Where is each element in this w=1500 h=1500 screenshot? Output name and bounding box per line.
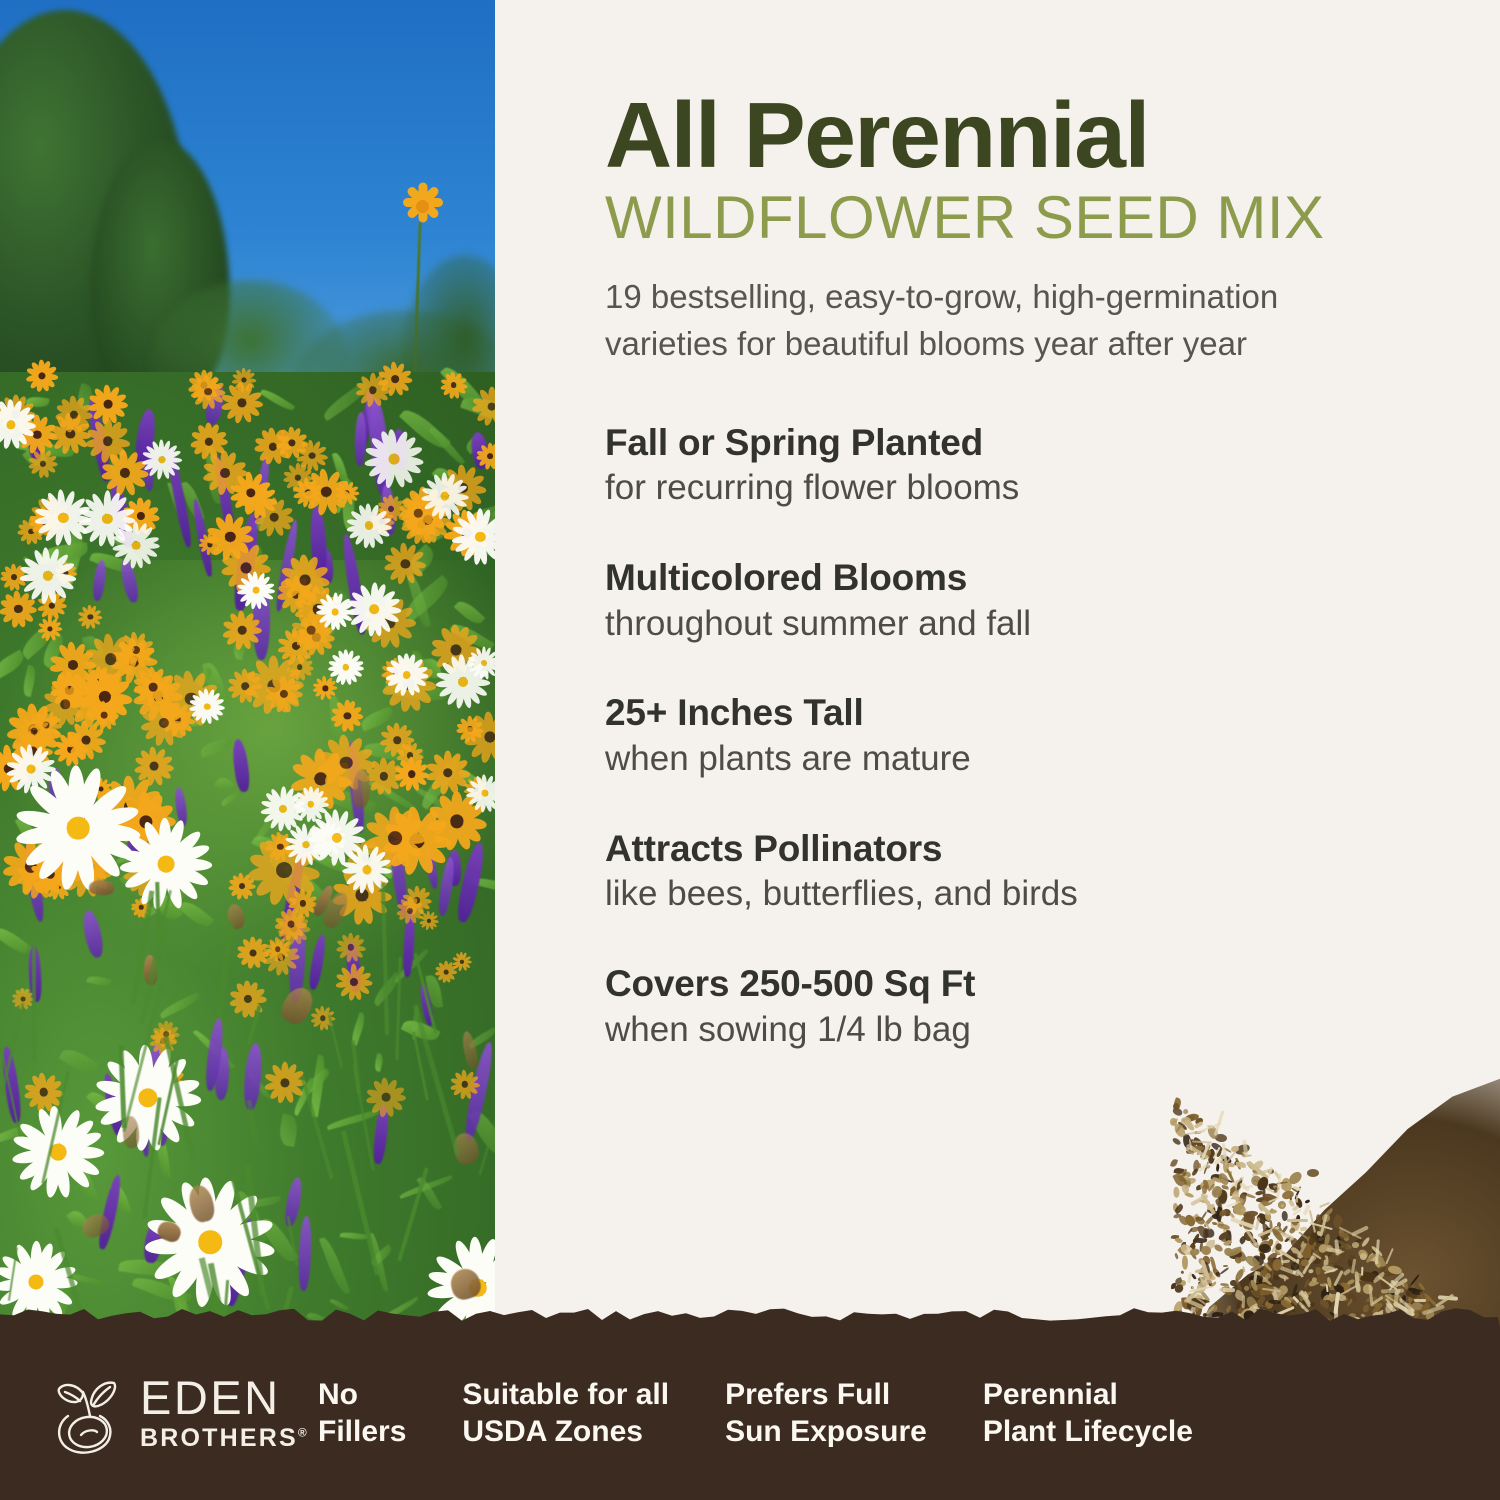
seed-particle xyxy=(1288,1237,1295,1244)
seed-particle xyxy=(1277,1222,1281,1228)
seed-particle xyxy=(1331,1215,1345,1230)
seed-particle xyxy=(1352,1268,1357,1273)
black-eyed-susan-bloom xyxy=(387,545,424,582)
seed-particle xyxy=(1234,1268,1245,1282)
seed-particle xyxy=(1170,1158,1178,1168)
scattered-seed xyxy=(1271,1227,1285,1243)
seed-particle xyxy=(1242,1211,1257,1218)
seed-particle xyxy=(1351,1242,1359,1248)
badge-line-2: Fillers xyxy=(318,1414,406,1451)
seed-particle xyxy=(1268,1168,1275,1174)
seed-particle xyxy=(1247,1215,1255,1223)
seed-particle xyxy=(1299,1269,1306,1276)
scattered-seed xyxy=(1271,1258,1282,1271)
seed-particle xyxy=(1290,1237,1299,1247)
white-daisy-bloom xyxy=(240,574,273,607)
black-eyed-susan-bloom xyxy=(267,938,289,960)
seed-particle xyxy=(1193,1237,1207,1243)
logo-text-brothers: BROTHERS® xyxy=(140,1423,309,1453)
feature-title: Multicolored Blooms xyxy=(605,556,1435,600)
seed-particle xyxy=(1326,1276,1332,1287)
seed-particle xyxy=(1199,1148,1213,1162)
badge-line-2: USDA Zones xyxy=(462,1414,669,1451)
seed-chaff xyxy=(1258,1202,1271,1215)
seed-particle xyxy=(1258,1203,1265,1211)
seed-particle xyxy=(1316,1231,1322,1237)
seed-particle xyxy=(1185,1146,1195,1155)
seed-particle xyxy=(1202,1215,1215,1228)
seed-particle xyxy=(1387,1265,1402,1276)
seed-particle xyxy=(1170,1235,1178,1240)
seed-particle xyxy=(1202,1268,1214,1280)
footer-badges: NoFillersSuitable for allUSDA ZonesPrefe… xyxy=(318,1377,1249,1450)
seed-chaff xyxy=(1253,1271,1258,1284)
seed-particle xyxy=(1347,1259,1352,1268)
seed-chaff xyxy=(1390,1279,1398,1287)
seed-particle xyxy=(1250,1238,1257,1244)
scattered-seed xyxy=(1316,1273,1327,1285)
seed-particle xyxy=(1198,1257,1207,1266)
seed-particle xyxy=(1311,1256,1321,1265)
black-eyed-susan-bloom xyxy=(479,445,495,468)
seed-particle xyxy=(1223,1265,1228,1268)
seed-particle xyxy=(1281,1189,1294,1200)
seed-particle xyxy=(1283,1275,1287,1282)
page-title: All Perennial xyxy=(605,0,1435,181)
black-eyed-susan-bloom xyxy=(26,1075,61,1110)
seed-particle xyxy=(1319,1263,1335,1275)
seed-particle xyxy=(1324,1243,1334,1254)
seed-chaff xyxy=(1192,1141,1213,1144)
black-eyed-susan-bloom xyxy=(104,453,145,494)
seed-particle xyxy=(1361,1236,1371,1247)
seed-particle xyxy=(1233,1143,1250,1156)
seed-particle xyxy=(1301,1246,1314,1260)
seed-particle xyxy=(1231,1197,1239,1200)
seed-particle xyxy=(1188,1242,1197,1251)
seed-particle xyxy=(1190,1251,1198,1260)
seed-particle xyxy=(1275,1249,1282,1255)
seed-particle xyxy=(1195,1185,1202,1191)
seed-particle xyxy=(1366,1250,1381,1263)
seed-chaff xyxy=(1183,1185,1189,1194)
content-panel: All Perennial WILDFLOWER SEED MIX 19 bes… xyxy=(495,0,1500,1345)
seed-particle xyxy=(1220,1158,1235,1169)
seed-particle xyxy=(1250,1264,1263,1272)
seed-chaff xyxy=(1292,1208,1302,1216)
white-daisy-bloom xyxy=(0,403,33,447)
seed-chaff xyxy=(1182,1131,1205,1137)
seed-chaff xyxy=(1226,1201,1241,1208)
seed-particle xyxy=(1224,1230,1231,1245)
seed-chaff xyxy=(1292,1258,1299,1274)
seed-chaff xyxy=(1225,1151,1237,1166)
black-eyed-susan-bloom xyxy=(90,702,117,729)
seed-particle xyxy=(1290,1219,1298,1227)
seed-particle xyxy=(1276,1225,1286,1236)
seed-chaff xyxy=(1290,1263,1303,1278)
seed-particle xyxy=(1245,1161,1253,1170)
seed-particle xyxy=(1323,1208,1333,1218)
feature-subtitle: when sowing 1/4 lb bag xyxy=(605,1009,1435,1052)
black-eyed-susan-bloom xyxy=(225,613,260,648)
seed-particle xyxy=(1281,1177,1293,1192)
seed-particle xyxy=(1191,1167,1198,1175)
seed-particle xyxy=(1180,1118,1191,1126)
seed-chaff xyxy=(1274,1171,1281,1180)
seed-particle xyxy=(1203,1162,1210,1175)
seed-particle xyxy=(1204,1143,1210,1151)
seed-particle xyxy=(1288,1226,1296,1234)
seed-particle xyxy=(1235,1162,1245,1168)
black-eyed-susan-bloom xyxy=(239,939,267,967)
seed-particle xyxy=(1206,1203,1218,1215)
seed-particle xyxy=(1379,1266,1387,1275)
badge-line-1: Perennial xyxy=(983,1377,1193,1414)
seed-particle xyxy=(1379,1262,1390,1273)
black-eyed-susan-bloom xyxy=(333,702,362,731)
black-eyed-susan-bloom xyxy=(21,718,48,745)
seed-chaff xyxy=(1186,1144,1210,1161)
seed-particle xyxy=(1182,1178,1187,1183)
seed-chaff xyxy=(1193,1121,1203,1129)
seed-particle xyxy=(1243,1212,1256,1228)
seed-particle xyxy=(1219,1267,1229,1275)
seed-chaff xyxy=(1302,1255,1315,1275)
seed-particle xyxy=(1354,1272,1363,1281)
seed-chaff xyxy=(1324,1268,1338,1274)
seed-particle xyxy=(1235,1177,1243,1191)
seed-chaff xyxy=(1302,1204,1310,1215)
scattered-seed xyxy=(1183,1214,1197,1229)
seed-particle xyxy=(1281,1226,1287,1234)
torn-edge-divider xyxy=(0,1288,1500,1328)
black-eyed-susan-bloom xyxy=(192,376,223,407)
seed-particle xyxy=(1208,1282,1213,1287)
seed-particle xyxy=(1281,1203,1285,1207)
seed-particle xyxy=(1359,1252,1367,1260)
seed-particle xyxy=(1199,1271,1203,1275)
seed-particle xyxy=(1177,1214,1190,1227)
seed-particle xyxy=(1221,1238,1229,1242)
seed-particle xyxy=(1309,1245,1315,1251)
black-eyed-susan-bloom xyxy=(396,759,427,790)
seed-particle xyxy=(1259,1275,1269,1282)
seed-particle xyxy=(1195,1269,1210,1274)
seed-particle xyxy=(1291,1246,1304,1261)
seed-particle xyxy=(1239,1152,1248,1157)
seed-chaff xyxy=(1271,1240,1280,1253)
white-daisy-bloom xyxy=(126,824,206,904)
seed-particle xyxy=(1235,1157,1241,1169)
seed-particle xyxy=(1382,1270,1397,1276)
scattered-seed xyxy=(1249,1174,1264,1188)
seed-particle xyxy=(1223,1246,1235,1258)
plant-stem xyxy=(32,935,37,1062)
seed-particle xyxy=(1318,1237,1324,1241)
seed-particle xyxy=(1177,1121,1188,1131)
seed-chaff xyxy=(1243,1185,1253,1189)
seed-particle xyxy=(1235,1194,1248,1209)
seed-chaff xyxy=(1242,1151,1248,1156)
seed-particle xyxy=(1189,1140,1195,1146)
black-eyed-susan-bloom xyxy=(223,384,260,421)
seed-particle xyxy=(1195,1215,1202,1221)
seed-particle xyxy=(1173,1203,1184,1214)
seed-particle xyxy=(1183,1114,1195,1124)
seed-particle xyxy=(1273,1184,1281,1190)
black-eyed-susan-bloom xyxy=(338,966,370,998)
scattered-seed xyxy=(1287,1170,1304,1187)
seed-particle xyxy=(1338,1239,1352,1251)
seed-particle xyxy=(1183,1134,1191,1148)
seed-particle xyxy=(1297,1260,1303,1270)
seed-particle xyxy=(1215,1271,1220,1276)
seed-particle xyxy=(1199,1267,1207,1274)
seed-chaff xyxy=(1287,1219,1308,1222)
seed-particle xyxy=(1223,1238,1233,1247)
feature-title: Fall or Spring Planted xyxy=(605,421,1435,465)
seed-particle xyxy=(1314,1232,1323,1245)
seed-particle xyxy=(1255,1190,1264,1196)
seed-particle xyxy=(1216,1186,1221,1191)
black-eyed-susan-bloom xyxy=(437,963,456,982)
black-eyed-susan-bloom xyxy=(57,398,90,431)
seed-particle xyxy=(1370,1245,1383,1257)
seed-particle xyxy=(1266,1263,1271,1267)
seed-particle xyxy=(1269,1209,1277,1214)
seed-particle xyxy=(1320,1282,1327,1287)
seed-particle xyxy=(1269,1220,1272,1233)
white-daisy-bloom xyxy=(424,476,466,518)
seed-chaff xyxy=(1308,1210,1315,1232)
seed-particle xyxy=(1216,1148,1223,1157)
seed-chaff xyxy=(1200,1193,1216,1216)
seed-particle xyxy=(1206,1277,1213,1287)
product-poster: All Perennial WILDFLOWER SEED MIX 19 bes… xyxy=(0,0,1500,1500)
seed-particle xyxy=(1271,1268,1275,1280)
badge-line-2: Plant Lifecycle xyxy=(983,1414,1193,1451)
seed-particle xyxy=(1311,1277,1316,1282)
seed-particle xyxy=(1248,1235,1261,1249)
seed-particle xyxy=(1181,1117,1191,1126)
seed-chaff xyxy=(1351,1226,1369,1238)
seed-chaff xyxy=(1187,1272,1192,1284)
seed-particle xyxy=(1200,1270,1216,1281)
seed-particle xyxy=(1312,1249,1324,1257)
seed-particle xyxy=(1230,1212,1236,1219)
seed-particle xyxy=(1307,1276,1322,1288)
seed-chaff xyxy=(1213,1111,1223,1136)
white-daisy-bloom xyxy=(192,691,223,722)
scattered-seed xyxy=(1317,1242,1329,1254)
seed-particle xyxy=(1289,1194,1292,1201)
seed-chaff xyxy=(1245,1229,1258,1246)
seed-particle xyxy=(1203,1261,1211,1274)
seed-chaff xyxy=(1312,1252,1321,1259)
white-daisy-bloom xyxy=(116,525,157,566)
seed-chaff xyxy=(1274,1247,1297,1263)
seed-particle xyxy=(1216,1172,1230,1188)
seed-particle xyxy=(1228,1247,1243,1258)
seed-particle xyxy=(1365,1253,1376,1263)
black-eyed-susan-bloom xyxy=(267,1065,304,1102)
seed-chaff xyxy=(1385,1248,1394,1265)
seed-particle xyxy=(1178,1169,1189,1182)
seed-particle xyxy=(1234,1160,1240,1166)
seed-particle xyxy=(1190,1227,1200,1234)
seed-particle xyxy=(1183,1118,1196,1132)
scattered-seed xyxy=(1307,1169,1319,1177)
seed-chaff xyxy=(1389,1272,1405,1288)
seed-particle xyxy=(1170,1118,1178,1127)
seed-particle xyxy=(1218,1202,1222,1211)
seed-particle xyxy=(1348,1254,1356,1261)
seed-particle xyxy=(1228,1250,1242,1260)
seed-particle xyxy=(1315,1233,1327,1246)
seed-chaff xyxy=(1306,1255,1317,1266)
seed-particle xyxy=(1402,1283,1408,1287)
seed-chaff xyxy=(1199,1275,1205,1285)
sprouting-seed-icon xyxy=(52,1372,128,1456)
seed-particle xyxy=(1242,1230,1254,1243)
seed-particle xyxy=(1229,1280,1237,1286)
seed-particle xyxy=(1244,1225,1253,1231)
seed-particle xyxy=(1257,1212,1271,1224)
seed-particle xyxy=(1315,1214,1321,1223)
seed-particle xyxy=(1265,1272,1272,1279)
page-subtitle: WILDFLOWER SEED MIX xyxy=(605,187,1435,248)
seed-particle xyxy=(1271,1225,1283,1237)
seed-particle xyxy=(1353,1237,1362,1246)
seed-chaff xyxy=(1361,1267,1364,1276)
seed-particle xyxy=(1199,1241,1203,1252)
seed-particle xyxy=(1196,1224,1209,1240)
seed-particle xyxy=(1306,1235,1315,1244)
seed-chaff xyxy=(1375,1239,1380,1264)
seed-particle xyxy=(1269,1258,1276,1263)
seed-particle xyxy=(1342,1244,1346,1258)
white-daisy-bloom xyxy=(369,433,421,485)
seed-particle xyxy=(1242,1192,1257,1199)
scattered-seed xyxy=(1259,1268,1269,1277)
seed-particle xyxy=(1218,1189,1228,1203)
black-eyed-susan-bloom xyxy=(277,428,306,457)
seed-particle xyxy=(1314,1266,1327,1282)
white-daisy-bloom xyxy=(313,814,362,863)
seed-particle xyxy=(1242,1155,1252,1159)
black-eyed-susan-bloom xyxy=(474,389,495,424)
seed-particle xyxy=(1207,1183,1216,1192)
seed-chaff xyxy=(1334,1239,1340,1255)
seed-particle xyxy=(1263,1262,1272,1272)
seed-particle xyxy=(1302,1248,1315,1261)
seed-chaff xyxy=(1239,1182,1251,1192)
seed-particle xyxy=(1203,1226,1216,1239)
seed-particle xyxy=(1189,1145,1205,1154)
seed-particle xyxy=(1259,1243,1272,1253)
seed-particle xyxy=(1291,1187,1298,1193)
seed-chaff xyxy=(1270,1227,1295,1241)
seed-particle xyxy=(1305,1199,1311,1204)
seed-particle xyxy=(1261,1276,1273,1286)
seed-particle xyxy=(1203,1179,1209,1189)
black-eyed-susan-bloom xyxy=(143,703,184,744)
seed-chaff xyxy=(1299,1227,1306,1232)
seed-particle xyxy=(1373,1248,1381,1262)
footer-badge: PerennialPlant Lifecycle xyxy=(983,1377,1193,1450)
seed-particle xyxy=(1235,1197,1244,1205)
seed-particle xyxy=(1172,1171,1187,1188)
seed-chaff xyxy=(1246,1161,1269,1181)
seed-particle xyxy=(1179,1279,1186,1286)
seed-particle xyxy=(1357,1248,1370,1261)
scattered-seed xyxy=(1300,1258,1309,1266)
seed-particle xyxy=(1259,1199,1273,1207)
seed-particle xyxy=(1334,1264,1344,1271)
feature-item: 25+ Inches Tallwhen plants are mature xyxy=(605,691,1435,780)
seed-particle xyxy=(1175,1124,1183,1134)
seed-particle xyxy=(1222,1185,1229,1190)
seed-particle xyxy=(1308,1269,1313,1274)
footer-badge: Prefers FullSun Exposure xyxy=(725,1377,927,1450)
seed-chaff xyxy=(1333,1271,1343,1287)
seed-particle xyxy=(1211,1267,1222,1279)
seed-particle xyxy=(1191,1273,1196,1279)
seed-particle xyxy=(1218,1208,1228,1218)
seed-particle xyxy=(1210,1281,1217,1287)
seed-chaff xyxy=(1197,1122,1222,1133)
black-eyed-susan-bloom xyxy=(421,913,437,929)
seed-particle xyxy=(1182,1256,1188,1271)
seed-particle xyxy=(1193,1159,1200,1172)
seed-particle xyxy=(1191,1233,1200,1246)
seed-chaff xyxy=(1309,1222,1333,1230)
black-eyed-susan-bloom xyxy=(232,474,269,511)
seed-particle xyxy=(1341,1243,1352,1249)
seed-particle xyxy=(1233,1210,1244,1214)
seed-particle xyxy=(1372,1272,1386,1284)
seed-particle xyxy=(1267,1258,1276,1271)
seed-particle xyxy=(1198,1163,1202,1168)
seed-particle xyxy=(1214,1206,1223,1222)
seed-particle xyxy=(1372,1254,1378,1261)
eden-brothers-logo[interactable]: EDEN BROTHERS® xyxy=(52,1372,292,1456)
seed-particle xyxy=(1213,1243,1224,1253)
seed-particle xyxy=(1371,1255,1379,1263)
seed-chaff xyxy=(1213,1146,1221,1158)
feature-subtitle: when plants are mature xyxy=(605,738,1435,781)
feature-subtitle: like bees, butterflies, and birds xyxy=(605,873,1435,916)
seed-chaff xyxy=(1221,1143,1227,1162)
seed-chaff xyxy=(1257,1226,1279,1237)
seed-chaff xyxy=(1293,1186,1302,1192)
seed-particle xyxy=(1255,1270,1268,1281)
seed-particle xyxy=(1222,1226,1233,1236)
seed-particle xyxy=(1362,1271,1371,1279)
seed-chaff xyxy=(1280,1250,1284,1265)
seed-particle xyxy=(1194,1117,1204,1126)
black-eyed-susan-bloom xyxy=(291,891,316,916)
badge-line-2: Sun Exposure xyxy=(725,1414,927,1451)
seed-chaff xyxy=(1339,1226,1362,1238)
footer-bar: EDEN BROTHERS® NoFillersSuitable for all… xyxy=(0,1328,1500,1500)
seed-particle xyxy=(1173,1213,1182,1219)
seed-particle xyxy=(1261,1231,1271,1242)
seed-particle xyxy=(1253,1178,1267,1186)
seed-particle xyxy=(1337,1236,1342,1246)
white-daisy-bloom xyxy=(39,493,88,542)
